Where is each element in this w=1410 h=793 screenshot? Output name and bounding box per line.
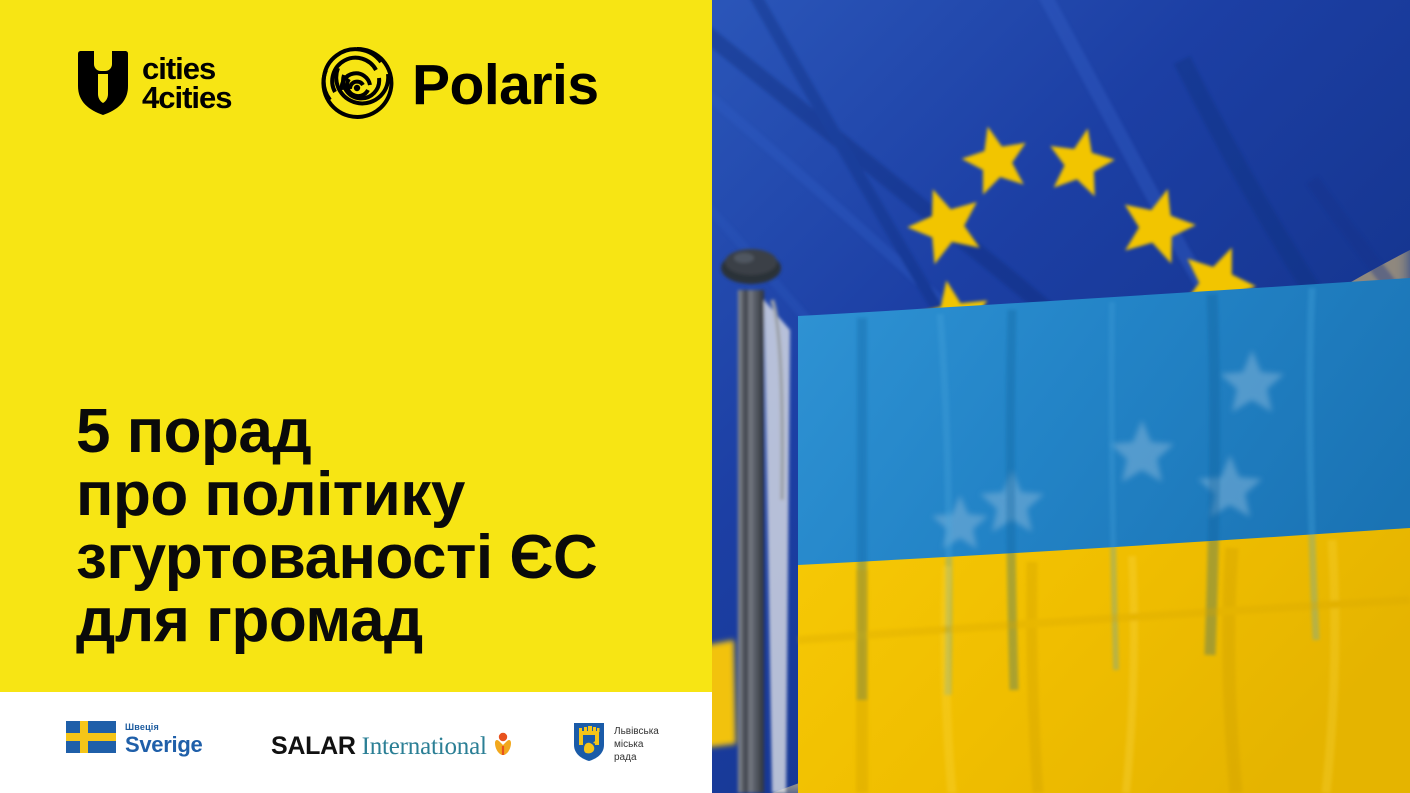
sweden-logo: Швеція Sverige bbox=[66, 721, 202, 758]
background-flag-glimpse bbox=[712, 640, 736, 748]
shield-icon bbox=[76, 50, 130, 121]
salar-international-logo: SALAR International bbox=[271, 728, 513, 761]
slide-root: cities 4cities bbox=[0, 0, 1410, 793]
polaris-wordmark: Polaris bbox=[412, 57, 599, 114]
flags-photograph bbox=[712, 0, 1410, 793]
sweden-label-uk: Швеція bbox=[125, 723, 202, 732]
sweden-flag-icon bbox=[66, 721, 116, 758]
cities4cities-line2: 4cities bbox=[142, 80, 232, 114]
polaris-logo: Polaris bbox=[318, 44, 599, 127]
cities4cities-wordmark: cities 4cities bbox=[142, 52, 260, 119]
lviv-label: Львівська міська рада bbox=[614, 725, 659, 765]
lviv-coat-of-arms-icon bbox=[573, 722, 605, 767]
salar-wordmark-primary: SALAR bbox=[271, 732, 356, 761]
sweden-label-sv: Sverige bbox=[125, 734, 202, 756]
cities4cities-logo: cities 4cities bbox=[76, 50, 260, 121]
ukraine-flag bbox=[798, 278, 1410, 793]
lviv-city-council-logo: Львівська міська рада bbox=[573, 722, 659, 767]
salar-wordmark-secondary: International bbox=[362, 733, 487, 761]
sweden-text-block: Швеція Sverige bbox=[125, 723, 202, 756]
spiral-radar-icon bbox=[318, 44, 396, 127]
page-title: 5 порад про політику згуртованості ЄС дл… bbox=[76, 400, 676, 653]
logo-bar: cities 4cities bbox=[76, 44, 599, 127]
person-figure-icon bbox=[493, 731, 513, 762]
